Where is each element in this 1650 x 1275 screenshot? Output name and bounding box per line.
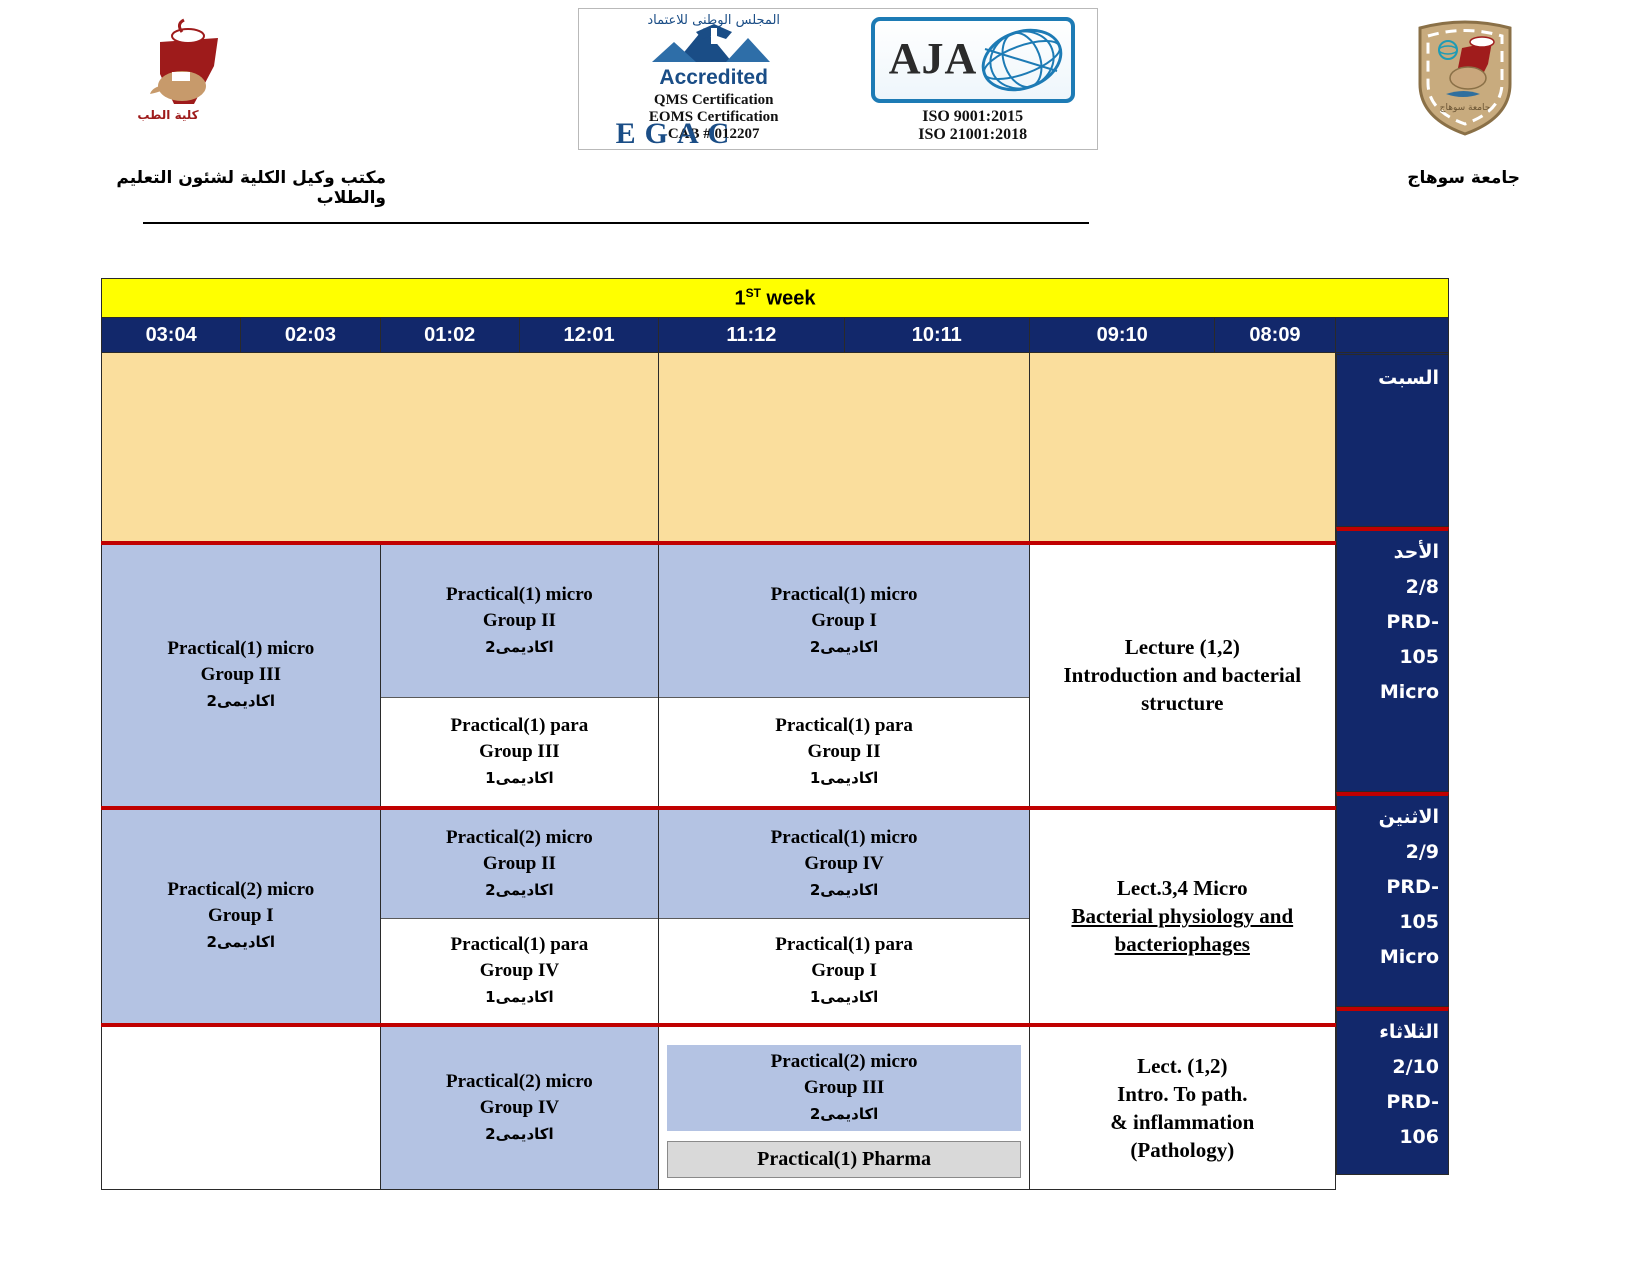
aja-iso-21001: ISO 21001:2018 — [918, 126, 1027, 144]
sunday-para3-room: اكاديمى1 — [381, 765, 659, 791]
tuesday-micro3-title: Practical(2) micro — [667, 1049, 1021, 1075]
sunday-micro2-title: Practical(1) micro — [381, 582, 659, 608]
tuesday-slot-practical2-micro-group4[interactable]: Practical(2) micro Group IV اكاديمى2 — [380, 1025, 659, 1190]
tuesday-lecture-cell[interactable]: Lect. (1,2) Intro. To path. & inflammati… — [1029, 1025, 1335, 1190]
sunday-slot-practical-micro-group2[interactable]: Practical(1) micro Group II اكاديمى2 — [381, 545, 659, 698]
monday-slot-pair-1112-1011: Practical(1) micro Group IV اكاديمى2 Pra… — [659, 808, 1030, 1025]
tuesday-lecture-line2: Intro. To path. — [1030, 1080, 1335, 1108]
monday-micro4-title: Practical(1) micro — [659, 825, 1029, 851]
monday-slot-group: Group I — [102, 903, 380, 929]
day-column-header — [1335, 318, 1448, 353]
monday-slot-practical-para-group1[interactable]: Practical(1) para Group I اكاديمى1 — [659, 918, 1029, 1023]
sunday-lecture-line1: Lecture (1,2) — [1030, 633, 1335, 661]
hour-header-1011[interactable]: 10:11 — [844, 318, 1029, 353]
egac-logo: المجلس الوطنى للاعتماد EGAC Accredited Q… — [579, 9, 848, 149]
day-label-monday-subject: Micro — [1337, 940, 1439, 975]
sunday-micro2-room: اكاديمى2 — [381, 634, 659, 660]
globe-icon — [979, 23, 1065, 102]
tuesday-micro3-room: اكاديمى2 — [667, 1101, 1021, 1127]
hour-header-0203[interactable]: 02:03 — [241, 318, 380, 353]
tuesday-slot-practical-pharma[interactable]: Practical(1) Pharma — [667, 1141, 1021, 1178]
sunday-slot-practical-micro-group1[interactable]: Practical(1) micro Group I اكاديمى2 — [659, 545, 1029, 698]
day-label-tuesday-name: الثلاثاء — [1337, 1015, 1439, 1050]
monday-lecture-line3: bacteriophages — [1030, 930, 1335, 958]
monday-micro2-group: Group II — [381, 851, 659, 877]
aja-iso-9001: ISO 9001:2015 — [918, 108, 1027, 126]
sunday-slot-room: اكاديمى2 — [102, 688, 380, 714]
saturday-slot-afternoon[interactable] — [102, 353, 659, 543]
hour-header-0910[interactable]: 09:10 — [1029, 318, 1214, 353]
monday-lecture-cell[interactable]: Lect.3,4 Micro Bacterial physiology and … — [1029, 808, 1335, 1025]
egac-mountain-icon — [616, 22, 812, 68]
sunday-para3-group: Group III — [381, 739, 659, 765]
day-label-tuesday-date: 2/10 — [1337, 1050, 1439, 1085]
sunday-slot-pair-0102-1201: Practical(1) micro Group II اكاديمى2 Pra… — [380, 543, 659, 808]
monday-slot-practical-para-group4[interactable]: Practical(1) para Group IV اكاديمى1 — [381, 918, 659, 1023]
monday-para1-group: Group I — [659, 958, 1029, 984]
saturday-slot-midday[interactable] — [659, 353, 1030, 543]
schedule-table: 1ST week 03:04 02:03 01:02 12:01 11:12 1… — [101, 278, 1449, 1190]
sunday-slot-group: Group III — [102, 662, 380, 688]
aja-badge: AJA — [871, 17, 1075, 103]
sunday-micro2-group: Group II — [381, 608, 659, 634]
day-label-monday-cell: الاثنين 2/9 PRD- 105 Micro — [1336, 792, 1449, 1007]
hours-header-row: 03:04 02:03 01:02 12:01 11:12 10:11 09:1… — [102, 318, 1449, 353]
aja-logo: AJA ISO 9001:2015 ISO 21001:2018 — [848, 9, 1097, 149]
day-label-saturday-text: السبت — [1378, 367, 1439, 389]
tuesday-lecture-line1: Lect. (1,2) — [1030, 1052, 1335, 1080]
monday-slot-practical-micro-group4[interactable]: Practical(1) micro Group IV اكاديمى2 — [659, 810, 1029, 919]
tuesday-micro3-group: Group III — [667, 1075, 1021, 1101]
svg-text:جامعة سوهاج: جامعة سوهاج — [1440, 103, 1491, 113]
monday-micro4-group: Group IV — [659, 851, 1029, 877]
tuesday-slot-practical2-micro-group3-wrap: Practical(2) micro Group III اكاديمى2 — [659, 1036, 1029, 1140]
sunday-slot-practical-micro-group3[interactable]: Practical(1) micro Group III اكاديمى2 — [102, 543, 381, 808]
day-label-sunday-subject: Micro — [1337, 675, 1439, 710]
monday-micro2-title: Practical(2) micro — [381, 825, 659, 851]
egac-line-qms: QMS Certification — [649, 92, 779, 109]
vice-dean-office-caption: مكتب وكيل الكلية لشئون التعليم والطلاب — [66, 168, 386, 208]
sunday-lecture-line2: Introduction and bacterial — [1030, 661, 1335, 689]
monday-slot-practical2-micro-group2[interactable]: Practical(2) micro Group II اكاديمى2 — [381, 810, 659, 919]
sunday-micro1-title: Practical(1) micro — [659, 582, 1029, 608]
monday-slot-title: Practical(2) micro — [102, 877, 380, 903]
sunday-slot-practical-para-group3[interactable]: Practical(1) para Group III اكاديمى1 — [381, 697, 659, 806]
tuesday-micro4-room: اكاديمى2 — [381, 1121, 659, 1147]
tuesday-micro4-group: Group IV — [381, 1095, 659, 1121]
sohag-university-crest-logo: جامعة سوهاج — [1400, 10, 1530, 140]
day-label-monday-name: الاثنين — [1337, 800, 1439, 835]
tuesday-slot-pharma-wrap: Practical(1) Pharma — [659, 1140, 1029, 1180]
tuesday-micro4-title: Practical(2) micro — [381, 1069, 659, 1095]
aja-letters: AJA — [889, 31, 978, 87]
monday-para4-room: اكاديمى1 — [381, 984, 659, 1010]
day-label-sunday-name: الأحد — [1337, 535, 1439, 570]
day-label-column: السبت الأحد 2/8 PRD- 105 Micro الاثنين 2… — [1336, 354, 1449, 1175]
sunday-slot-practical-para-group2[interactable]: Practical(1) para Group II اكاديمى1 — [659, 697, 1029, 806]
tuesday-lecture-line4: (Pathology) — [1030, 1136, 1335, 1164]
day-label-tuesday-cell: الثلاثاء 2/10 PRD- 106 — [1336, 1007, 1449, 1175]
tuesday-slot-empty-afternoon[interactable] — [102, 1025, 381, 1190]
hour-header-0809[interactable]: 08:09 — [1215, 318, 1335, 353]
day-label-sunday-cell: الأحد 2/8 PRD- 105 Micro — [1336, 527, 1449, 792]
sunday-micro1-group: Group I — [659, 608, 1029, 634]
saturday-slot-morning[interactable] — [1029, 353, 1335, 543]
tuesday-lecture-line3: & inflammation — [1030, 1108, 1335, 1136]
week-banner: 1ST week — [102, 279, 1449, 318]
sunday-para2-group: Group II — [659, 739, 1029, 765]
monday-micro4-room: اكاديمى2 — [659, 877, 1029, 903]
week-ordinal-suffix: ST — [746, 286, 761, 300]
sunday-slot-pair-1112-1011: Practical(1) micro Group I اكاديمى2 Prac… — [659, 543, 1030, 808]
monday-micro2-room: اكاديمى2 — [381, 877, 659, 903]
monday-lecture-line2: Bacterial physiology and — [1030, 902, 1335, 930]
monday-slot-room: اكاديمى2 — [102, 929, 380, 955]
row-tuesday: Practical(2) micro Group IV اكاديمى2 Pra… — [102, 1025, 1449, 1190]
day-label-monday-date: 2/9 — [1337, 835, 1439, 870]
sohag-faculty-of-medicine-logo: كلية الطب — [90, 14, 250, 134]
tuesday-slot-practical2-micro-group3[interactable]: Practical(2) micro Group III اكاديمى2 — [667, 1045, 1021, 1131]
day-label-tuesday-code1: PRD- — [1337, 1085, 1439, 1120]
day-label-tuesday-code2: 106 — [1337, 1120, 1439, 1155]
monday-para4-group: Group IV — [381, 958, 659, 984]
week-number: 1 — [735, 287, 746, 309]
hour-header-0304[interactable]: 03:04 — [102, 318, 241, 353]
aja-iso-lines: ISO 9001:2015 ISO 21001:2018 — [918, 108, 1027, 144]
hour-header-0102[interactable]: 01:02 — [380, 318, 519, 353]
monday-para1-title: Practical(1) para — [659, 932, 1029, 958]
svg-text:كلية الطب: كلية الطب — [137, 108, 198, 122]
header-divider — [143, 222, 1089, 224]
day-label-saturday-cell: السبت — [1336, 354, 1449, 527]
row-monday: Practical(2) micro Group I اكاديمى2 Prac… — [102, 808, 1449, 1025]
day-label-sunday-code2: 105 — [1337, 640, 1439, 675]
week-banner-row: 1ST week — [102, 279, 1449, 318]
page-header: كلية الطب المجلس الوطنى للاعتماد EGAC Ac… — [0, 0, 1650, 215]
monday-slot-pair-0102-1201: Practical(2) micro Group II اكاديمى2 Pra… — [380, 808, 659, 1025]
day-label-monday-code1: PRD- — [1337, 870, 1439, 905]
accreditation-logos: المجلس الوطنى للاعتماد EGAC Accredited Q… — [578, 8, 1098, 150]
week-word: week — [761, 287, 815, 309]
day-label-monday-code2: 105 — [1337, 905, 1439, 940]
sunday-micro1-room: اكاديمى2 — [659, 634, 1029, 660]
sunday-lecture-cell[interactable]: Lecture (1,2) Introduction and bacterial… — [1029, 543, 1335, 808]
monday-lecture-line1: Lect.3,4 Micro — [1030, 874, 1335, 902]
row-saturday: السبت — [102, 353, 1449, 543]
egac-letters: EGAC — [579, 119, 775, 149]
egac-accredited-label: Accredited — [659, 66, 768, 90]
row-sunday: Practical(1) micro Group III اكاديمى2 Pr… — [102, 543, 1449, 808]
monday-slot-practical2-micro-group1[interactable]: Practical(2) micro Group I اكاديمى2 — [102, 808, 381, 1025]
day-label-sunday-code1: PRD- — [1337, 605, 1439, 640]
university-name-caption: جامعة سوهاج — [1330, 168, 1520, 188]
sunday-lecture-line3: structure — [1030, 689, 1335, 717]
hour-header-1201[interactable]: 12:01 — [519, 318, 658, 353]
tuesday-slot-pair-1112-1011: Practical(2) micro Group III اكاديمى2 Pr… — [659, 1025, 1030, 1190]
sunday-para2-room: اكاديمى1 — [659, 765, 1029, 791]
sunday-slot-title: Practical(1) micro — [102, 636, 380, 662]
monday-para4-title: Practical(1) para — [381, 932, 659, 958]
sunday-para2-title: Practical(1) para — [659, 713, 1029, 739]
hour-header-1112[interactable]: 11:12 — [659, 318, 844, 353]
day-label-sunday-date: 2/8 — [1337, 570, 1439, 605]
monday-para1-room: اكاديمى1 — [659, 984, 1029, 1010]
sunday-para3-title: Practical(1) para — [381, 713, 659, 739]
